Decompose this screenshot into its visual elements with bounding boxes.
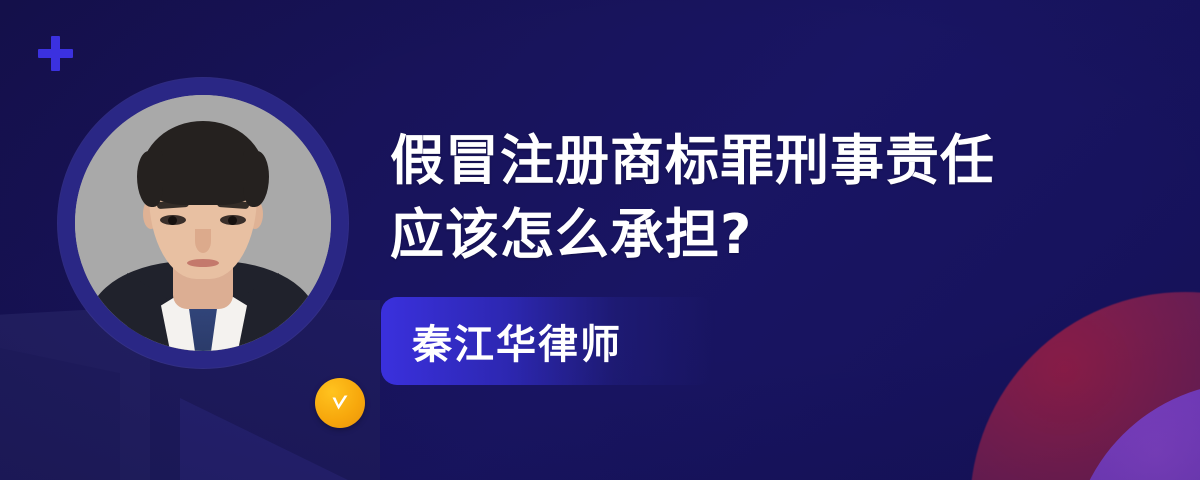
verified-check-icon (315, 378, 365, 428)
title-line-2: 应该怎么承担? (390, 198, 1110, 272)
avatar (58, 78, 348, 368)
author-name-badge[interactable]: 秦江华律师 (381, 297, 715, 385)
author-name-label: 秦江华律师 (381, 312, 622, 370)
decor-blob-violet (1070, 382, 1200, 480)
decor-blob-plum (970, 292, 1200, 480)
avatar-photo (75, 95, 331, 351)
page-title: 假冒注册商标罪刑事责任 应该怎么承担? (390, 124, 1110, 272)
promo-banner: 假冒注册商标罪刑事责任 应该怎么承担? 秦江华律师 (0, 0, 1200, 480)
plus-icon (38, 36, 73, 71)
title-line-1: 假冒注册商标罪刑事责任 (390, 124, 1110, 198)
